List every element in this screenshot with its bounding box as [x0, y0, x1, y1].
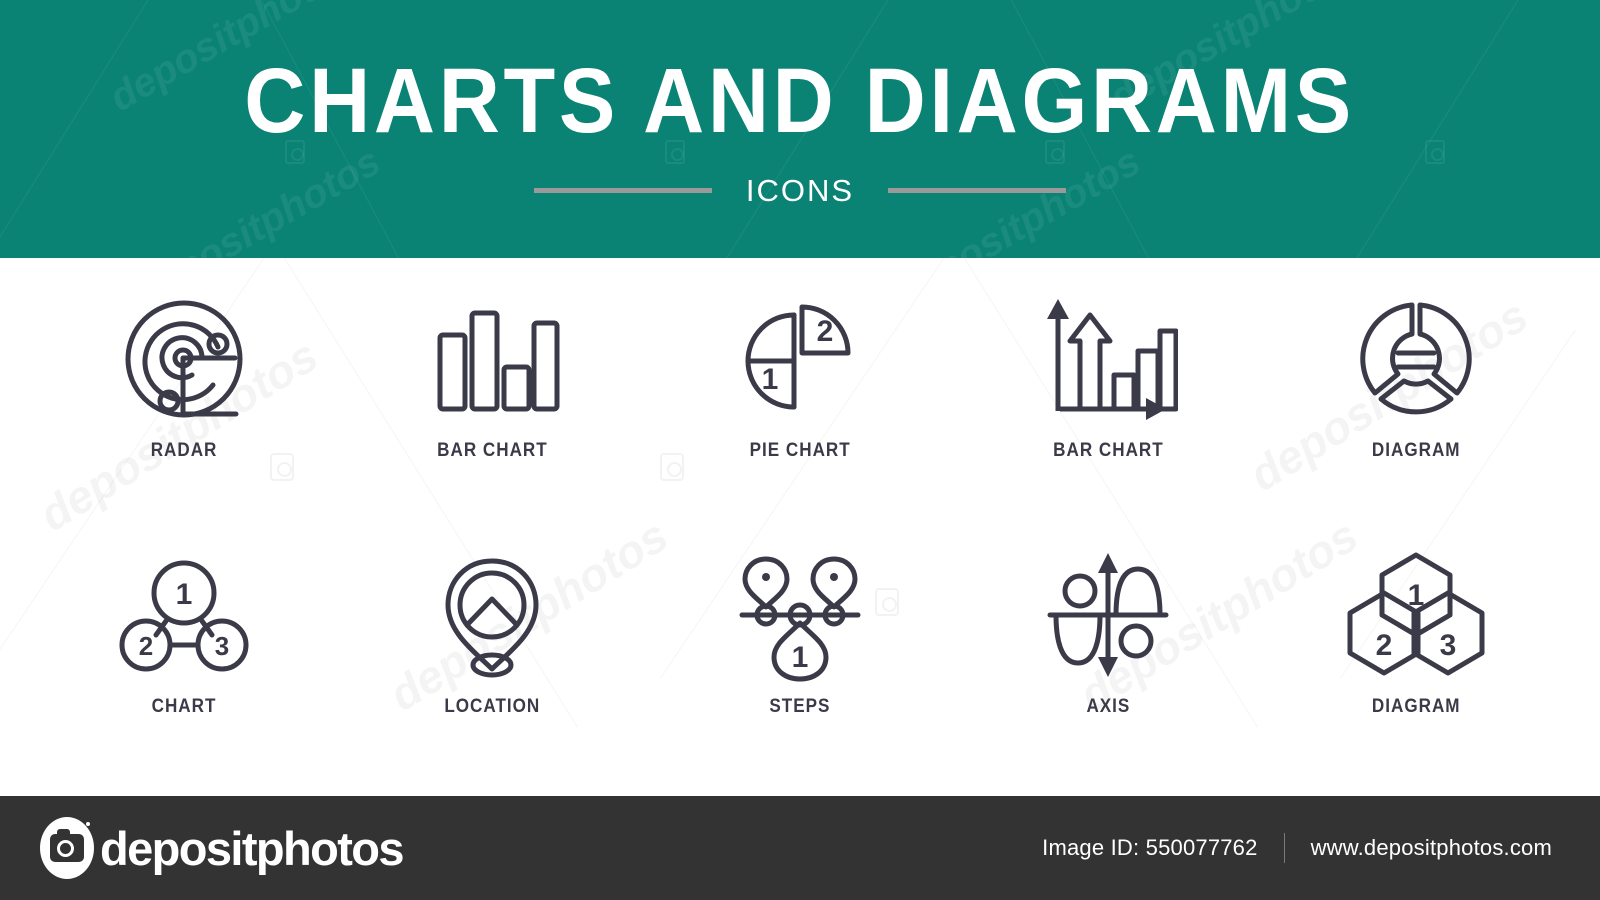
- icon-label: RADAR: [151, 440, 218, 462]
- image-id-text: Image ID: 550077762: [1042, 835, 1257, 861]
- icon-label: BAR CHART: [1053, 440, 1164, 462]
- poster-page: depositphotos depositphotos depositphoto…: [0, 0, 1600, 900]
- icon-cell-radar[interactable]: RADAR: [30, 266, 338, 522]
- axis-icon: [1033, 540, 1183, 690]
- icon-label: LOCATION: [444, 696, 540, 718]
- site-url-text[interactable]: www.depositphotos.com: [1311, 835, 1552, 861]
- subtitle-rule-right: [888, 188, 1066, 193]
- icon-grid: RADAR BAR CHART: [0, 258, 1600, 796]
- subtitle-row: ICONS: [534, 173, 1066, 209]
- icon-cell-donut-diagram[interactable]: DIAGRAM: [1262, 266, 1570, 522]
- icon-label: AXIS: [1086, 696, 1130, 718]
- icon-cell-bar-chart-axes[interactable]: BAR CHART: [954, 266, 1262, 522]
- location-pin-icon: [417, 540, 567, 690]
- icon-cell-bar-chart-bars[interactable]: BAR CHART: [338, 266, 646, 522]
- radar-icon: [109, 284, 259, 434]
- icon-cell-axis[interactable]: AXIS: [954, 522, 1262, 778]
- bar-chart-axes-icon: [1033, 284, 1183, 434]
- svg-text:3: 3: [215, 631, 229, 661]
- icon-label: DIAGRAM: [1372, 440, 1461, 462]
- footer-bar: depositphotos Image ID: 550077762 www.de…: [0, 796, 1600, 900]
- steps-icon: 1: [725, 540, 875, 690]
- svg-text:3: 3: [1440, 629, 1457, 662]
- donut-diagram-icon: [1341, 284, 1491, 434]
- node-chart-icon: 1 2 3: [109, 540, 259, 690]
- icon-cell-pie-chart[interactable]: 1 2 PIE CHART: [646, 266, 954, 522]
- footer-divider: [1284, 833, 1285, 863]
- icon-label: PIE CHART: [749, 440, 850, 462]
- depositphotos-logo[interactable]: depositphotos: [40, 817, 403, 879]
- header-banner: depositphotos depositphotos depositphoto…: [0, 0, 1600, 258]
- icon-label: DIAGRAM: [1372, 696, 1461, 718]
- camera-icon: [40, 817, 94, 879]
- bar-chart-bars-icon: [417, 284, 567, 434]
- poster-subtitle: ICONS: [746, 173, 854, 209]
- icon-cell-node-chart[interactable]: 1 2 3 CHART: [30, 522, 338, 778]
- svg-text:2: 2: [139, 631, 153, 661]
- pie-chart-icon: 1 2: [725, 284, 875, 434]
- svg-text:1: 1: [762, 363, 779, 396]
- subtitle-rule-left: [534, 188, 712, 193]
- icon-label: STEPS: [769, 696, 830, 718]
- icon-label: CHART: [152, 696, 217, 718]
- svg-text:2: 2: [817, 315, 834, 348]
- brand-name: depositphotos: [100, 821, 403, 876]
- icon-label: BAR CHART: [437, 440, 548, 462]
- svg-text:1: 1: [176, 578, 193, 611]
- svg-text:2: 2: [1376, 629, 1393, 662]
- hexagon-diagram-icon: 1 2 3: [1341, 540, 1491, 690]
- icon-cell-location[interactable]: LOCATION: [338, 522, 646, 778]
- svg-text:1: 1: [1408, 579, 1425, 612]
- icon-cell-hexagon-diagram[interactable]: 1 2 3 DIAGRAM: [1262, 522, 1570, 778]
- icon-cell-steps[interactable]: 1 STEPS: [646, 522, 954, 778]
- icon-grid-area: depositphotos depositphotos depositphoto…: [0, 258, 1600, 796]
- poster-title: CHARTS AND DIAGRAMS: [245, 55, 1356, 149]
- footer-meta: Image ID: 550077762 www.depositphotos.co…: [1042, 833, 1552, 863]
- svg-text:1: 1: [792, 641, 809, 674]
